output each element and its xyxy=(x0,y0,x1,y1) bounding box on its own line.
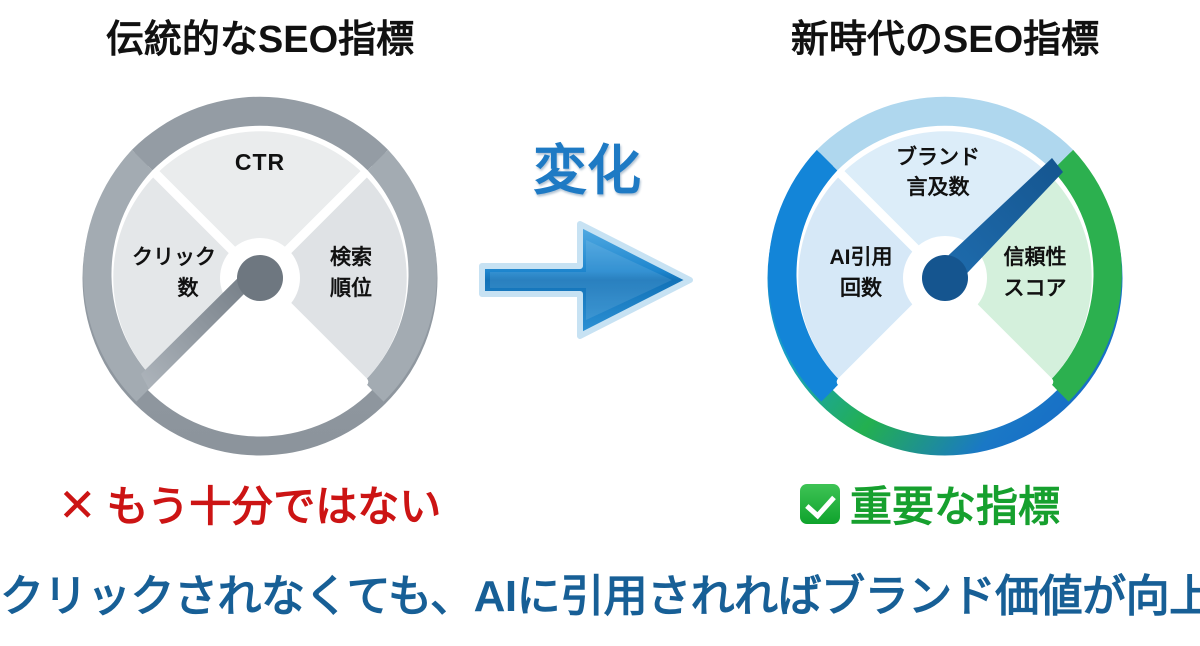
gauge-label-right-line1: 信頼性 xyxy=(1004,245,1067,269)
green-check-box-icon xyxy=(800,484,840,524)
left-panel-title: 伝統的なSEO指標 xyxy=(0,8,520,63)
traditional-seo-gauge: CTR クリック 数 検索 順位 xyxy=(78,92,442,466)
transition-label: 変化 xyxy=(462,126,712,205)
transition-block: 変化 xyxy=(462,118,712,368)
gauge-label-right-line2: 順位 xyxy=(330,276,372,300)
gauge-label-left-line1: AI引用 xyxy=(830,246,893,269)
left-caption-text: もう十分ではない xyxy=(107,473,442,534)
right-arrow-icon xyxy=(476,210,698,350)
infographic-canvas: 伝統的なSEO指標 新時代のSEO指標 xyxy=(0,0,1200,646)
new-era-seo-gauge-svg: ブランド 言及数 AI引用 回数 信頼性 スコア xyxy=(763,92,1127,466)
gauge-label-right-line1: 検索 xyxy=(330,245,372,269)
right-panel-caption: 重要な指標 xyxy=(800,473,1060,534)
bottom-banner-text: クリックされなくても、AIに引用されればブランド価値が向上 xyxy=(0,560,1200,624)
gauge-label-left-line1: クリック xyxy=(132,246,216,269)
gauge-label-top: CTR xyxy=(235,149,285,175)
right-panel-title: 新時代のSEO指標 xyxy=(690,8,1200,63)
gauge-label-left-line2: 回数 xyxy=(840,277,883,300)
traditional-seo-gauge-svg: CTR クリック 数 検索 順位 xyxy=(78,92,442,466)
gauge-label-right-line2: スコア xyxy=(1004,277,1067,300)
new-era-seo-gauge: ブランド 言及数 AI引用 回数 信頼性 スコア xyxy=(763,92,1127,466)
cross-mark-icon: ✕ xyxy=(58,482,97,528)
gauge-label-top-line2: 言及数 xyxy=(907,175,971,199)
left-panel-caption: ✕ もう十分ではない xyxy=(58,473,441,534)
gauge-label-top-line1: ブランド xyxy=(896,145,980,169)
gauge-label-left-line2: 数 xyxy=(178,277,200,300)
right-caption-text: 重要な指標 xyxy=(850,473,1060,534)
